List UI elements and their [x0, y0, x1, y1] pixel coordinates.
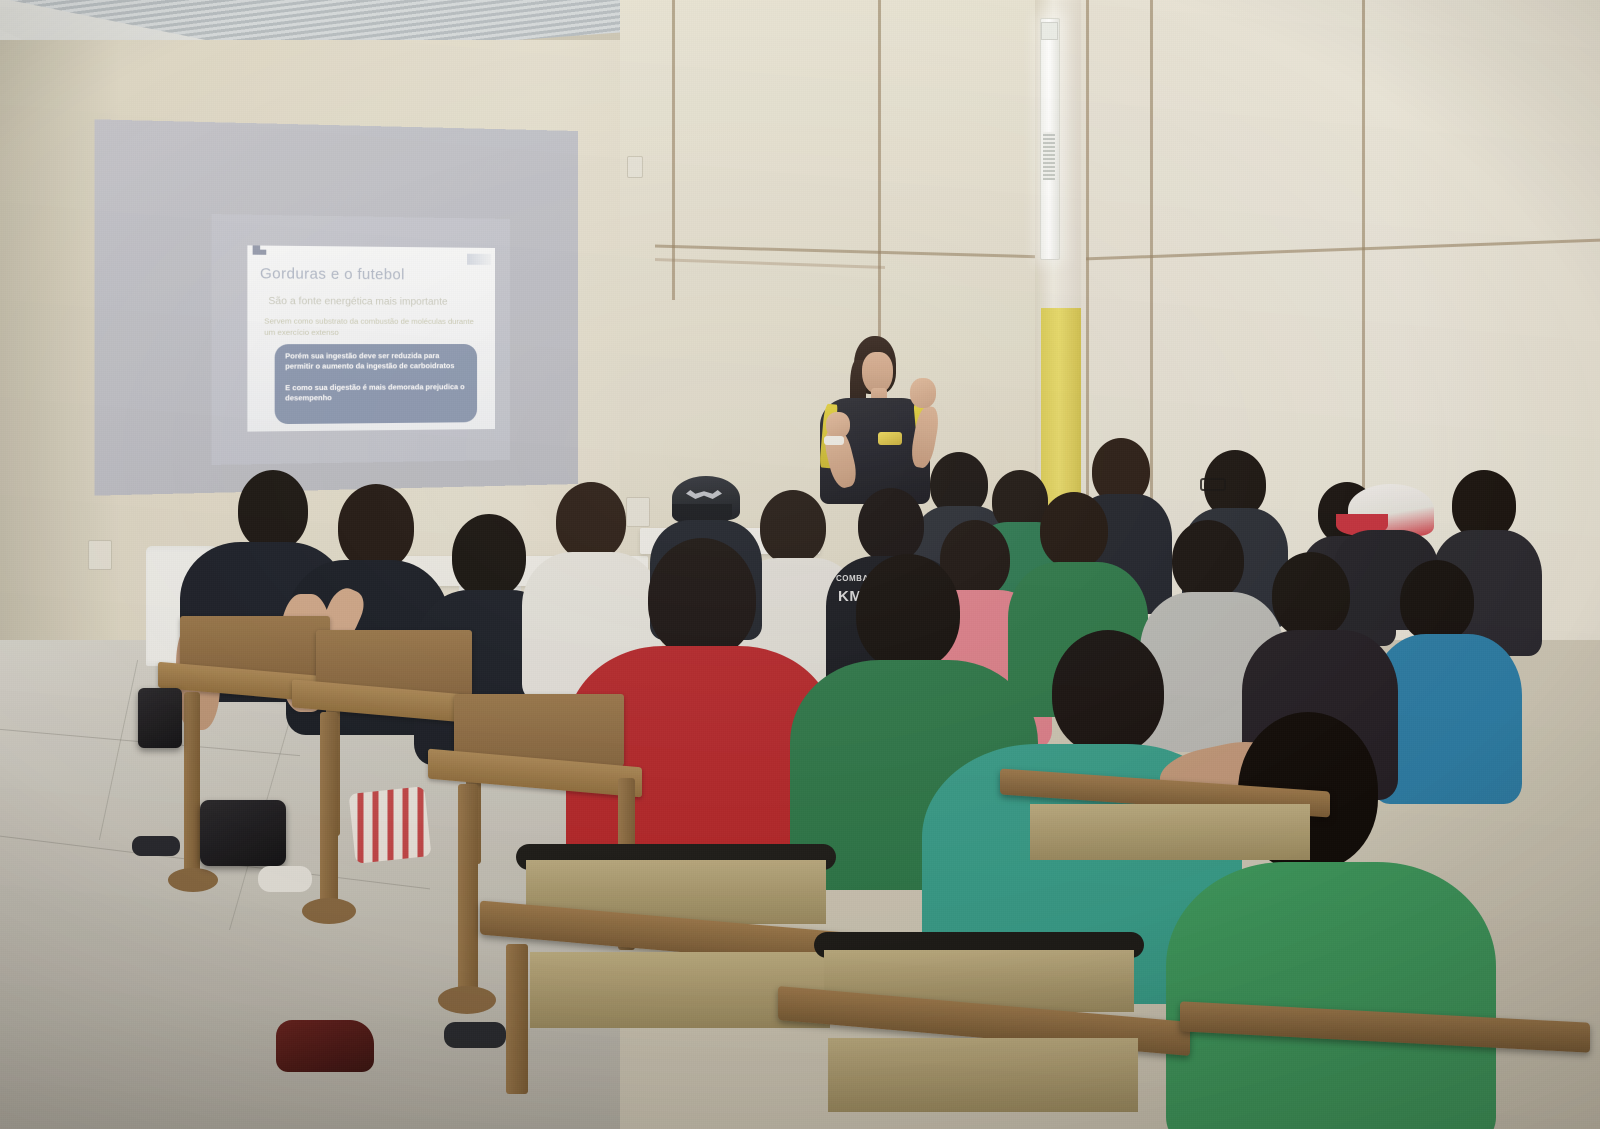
eyeglasses	[1200, 478, 1226, 491]
sneaker	[258, 866, 312, 892]
bench-seat-pad	[828, 1038, 1138, 1112]
presenter-shirt-logo	[878, 432, 902, 445]
slide-title: Gorduras e o futebol	[260, 266, 405, 283]
attendee-head	[760, 490, 826, 564]
bench-seat-row[interactable]	[770, 932, 1200, 1129]
wall-outlet	[627, 156, 643, 178]
lecture-hall-photograph: Gorduras e o futebol São a fonte energét…	[0, 0, 1600, 1129]
slide-callout-line-1: Porém sua ingestão deve ser reduzida par…	[285, 351, 467, 372]
presenter-wristwatch	[824, 436, 844, 445]
sandal	[444, 1022, 506, 1048]
slide-top-right-mark	[467, 254, 491, 265]
bench-leg	[506, 944, 528, 1094]
attendee-head	[452, 514, 526, 598]
attendee-head	[648, 538, 756, 658]
attendee-head	[1272, 552, 1350, 638]
bench-seat-pad	[1030, 804, 1310, 860]
chair-leg	[184, 692, 200, 882]
attendee-head	[556, 482, 626, 560]
presenter-right-fist	[910, 378, 936, 408]
attendee-head	[856, 554, 960, 670]
slide-callout-box: Porém sua ingestão deve ser reduzida par…	[275, 344, 477, 424]
presentation-slide: Gorduras e o futebol São a fonte energét…	[247, 245, 495, 431]
chair-foot	[168, 868, 218, 892]
backpack-on-floor	[200, 800, 286, 866]
slide-body-text: Servem como substrato da combustão de mo…	[264, 315, 484, 338]
attendee-head	[338, 484, 414, 570]
attendee-head	[1400, 560, 1474, 642]
attendee-head	[238, 470, 308, 550]
presenter-left-fist	[826, 412, 850, 438]
light-end-cap	[1041, 22, 1058, 40]
backpack-on-floor	[138, 688, 182, 748]
bench-seat-row[interactable]	[1000, 760, 1340, 910]
wall-seam	[672, 0, 675, 300]
slide-subheading: São a fonte energética mais importante	[268, 296, 447, 308]
sandal	[132, 836, 180, 856]
wall-seam	[1362, 0, 1365, 550]
attendee-head	[1172, 520, 1244, 600]
slide-callout-line-2: E como sua digestão é mais demorada prej…	[285, 382, 467, 403]
bench-seat-row[interactable]	[1180, 1012, 1600, 1129]
attendee-head	[858, 488, 924, 562]
attendee-head	[1040, 492, 1108, 568]
shoe	[276, 1020, 374, 1072]
attendee-head	[1052, 630, 1164, 754]
chair-foot	[302, 898, 356, 924]
striped-shorts	[349, 786, 432, 864]
wall-outlet	[88, 540, 112, 570]
chair-leg	[320, 712, 338, 912]
wall-outlet	[626, 497, 650, 527]
slide-corner-notch	[253, 245, 267, 254]
light-vent-grille	[1043, 132, 1055, 180]
